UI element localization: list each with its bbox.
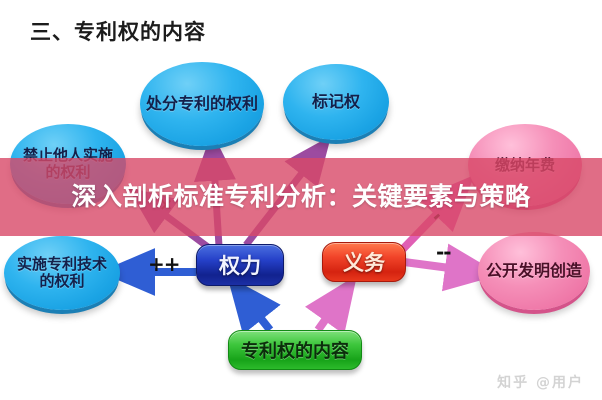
watermark: 知乎 @用户 — [497, 372, 584, 392]
node-zhuanliquan-de-neirong[interactable]: 专利权的内容 — [228, 330, 362, 370]
banner-title-text: 深入剖析标准专利分析：关键要素与策略 — [36, 182, 566, 212]
edge-label-plus-plus: ++ — [148, 252, 180, 276]
page-title: 三、专利权的内容 — [30, 16, 206, 46]
connector-neirong-to-quanli — [240, 292, 270, 330]
node-quanli[interactable]: 权力 — [196, 244, 284, 286]
node-yiwu[interactable]: 义务 — [322, 242, 406, 282]
node-shishi-zhuanli-jishu-de-quanli[interactable]: 实施专利技术的权利 — [4, 236, 120, 310]
node-chufen-zhuanli-de-quanli[interactable]: 处分专利的权利 — [140, 62, 264, 146]
title-banner-overlay: 深入剖析标准专利分析：关键要素与策略 — [0, 158, 602, 236]
node-gongkai-faming-chuangzao[interactable]: 公开发明创造 — [478, 232, 590, 310]
connector-neirong-to-yiwu — [318, 292, 345, 330]
node-biaojiquan[interactable]: 标记权 — [283, 64, 389, 140]
slide-canvas: 三、专利权的内容 — [0, 0, 602, 400]
edge-label-minus-minus: -- — [436, 240, 451, 264]
